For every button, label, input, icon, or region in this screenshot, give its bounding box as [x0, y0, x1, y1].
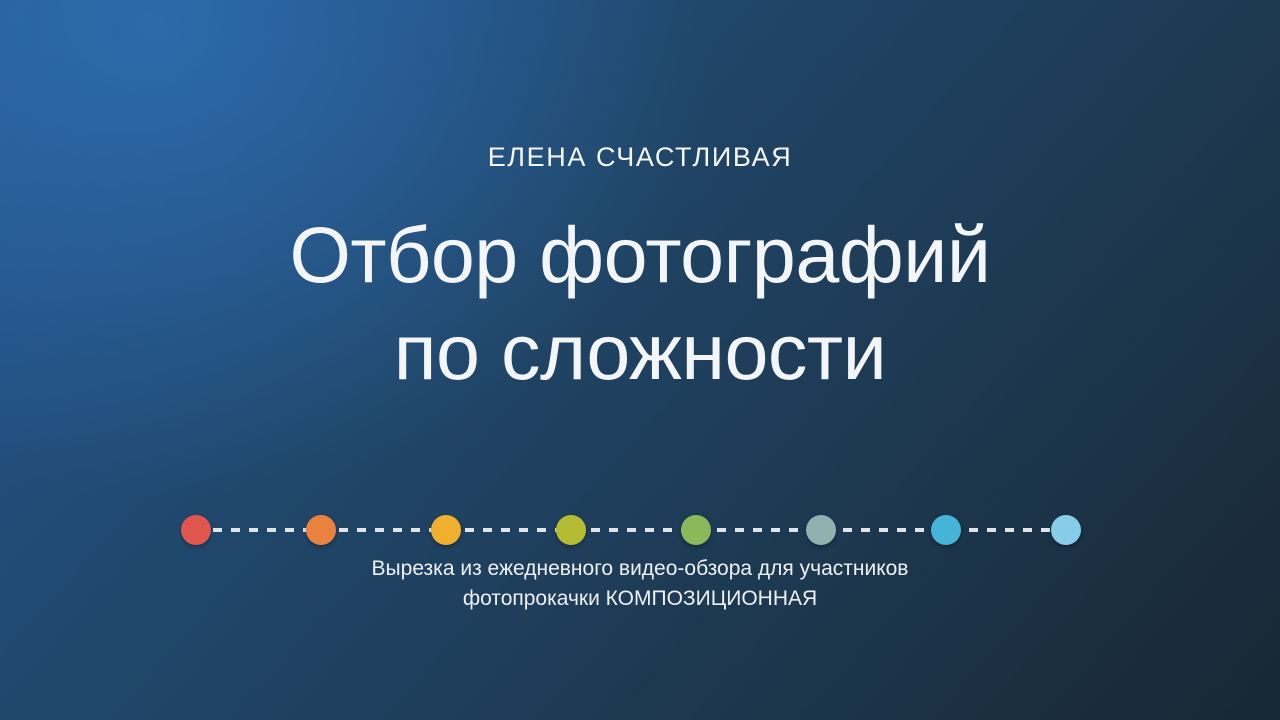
timeline-dot-3 — [431, 515, 461, 545]
slide-subtitle-line-2: фотопрокачки КОМПОЗИЦИОННАЯ — [180, 584, 1100, 614]
timeline-dot-4 — [556, 515, 586, 545]
timeline-dot-5 — [681, 515, 711, 545]
slide-subtitle: Вырезка из ежедневного видео-обзора для … — [180, 554, 1100, 614]
timeline-dot-1 — [181, 515, 211, 545]
presentation-slide: ЕЛЕНА СЧАСТЛИВАЯ Отбор фотографий по сло… — [0, 0, 1280, 720]
timeline-dot-6 — [806, 515, 836, 545]
timeline-dot-2 — [306, 515, 336, 545]
slide-title-line-1: Отбор фотографий — [0, 206, 1280, 303]
decorative-dot-timeline — [181, 512, 1081, 548]
author-name: ЕЛЕНА СЧАСТЛИВАЯ — [0, 140, 1280, 174]
slide-title-line-2: по сложности — [0, 303, 1280, 400]
slide-subtitle-line-1: Вырезка из ежедневного видео-обзора для … — [180, 554, 1100, 584]
timeline-dot-8 — [1051, 515, 1081, 545]
slide-title: Отбор фотографий по сложности — [0, 206, 1280, 400]
timeline-dot-7 — [931, 515, 961, 545]
